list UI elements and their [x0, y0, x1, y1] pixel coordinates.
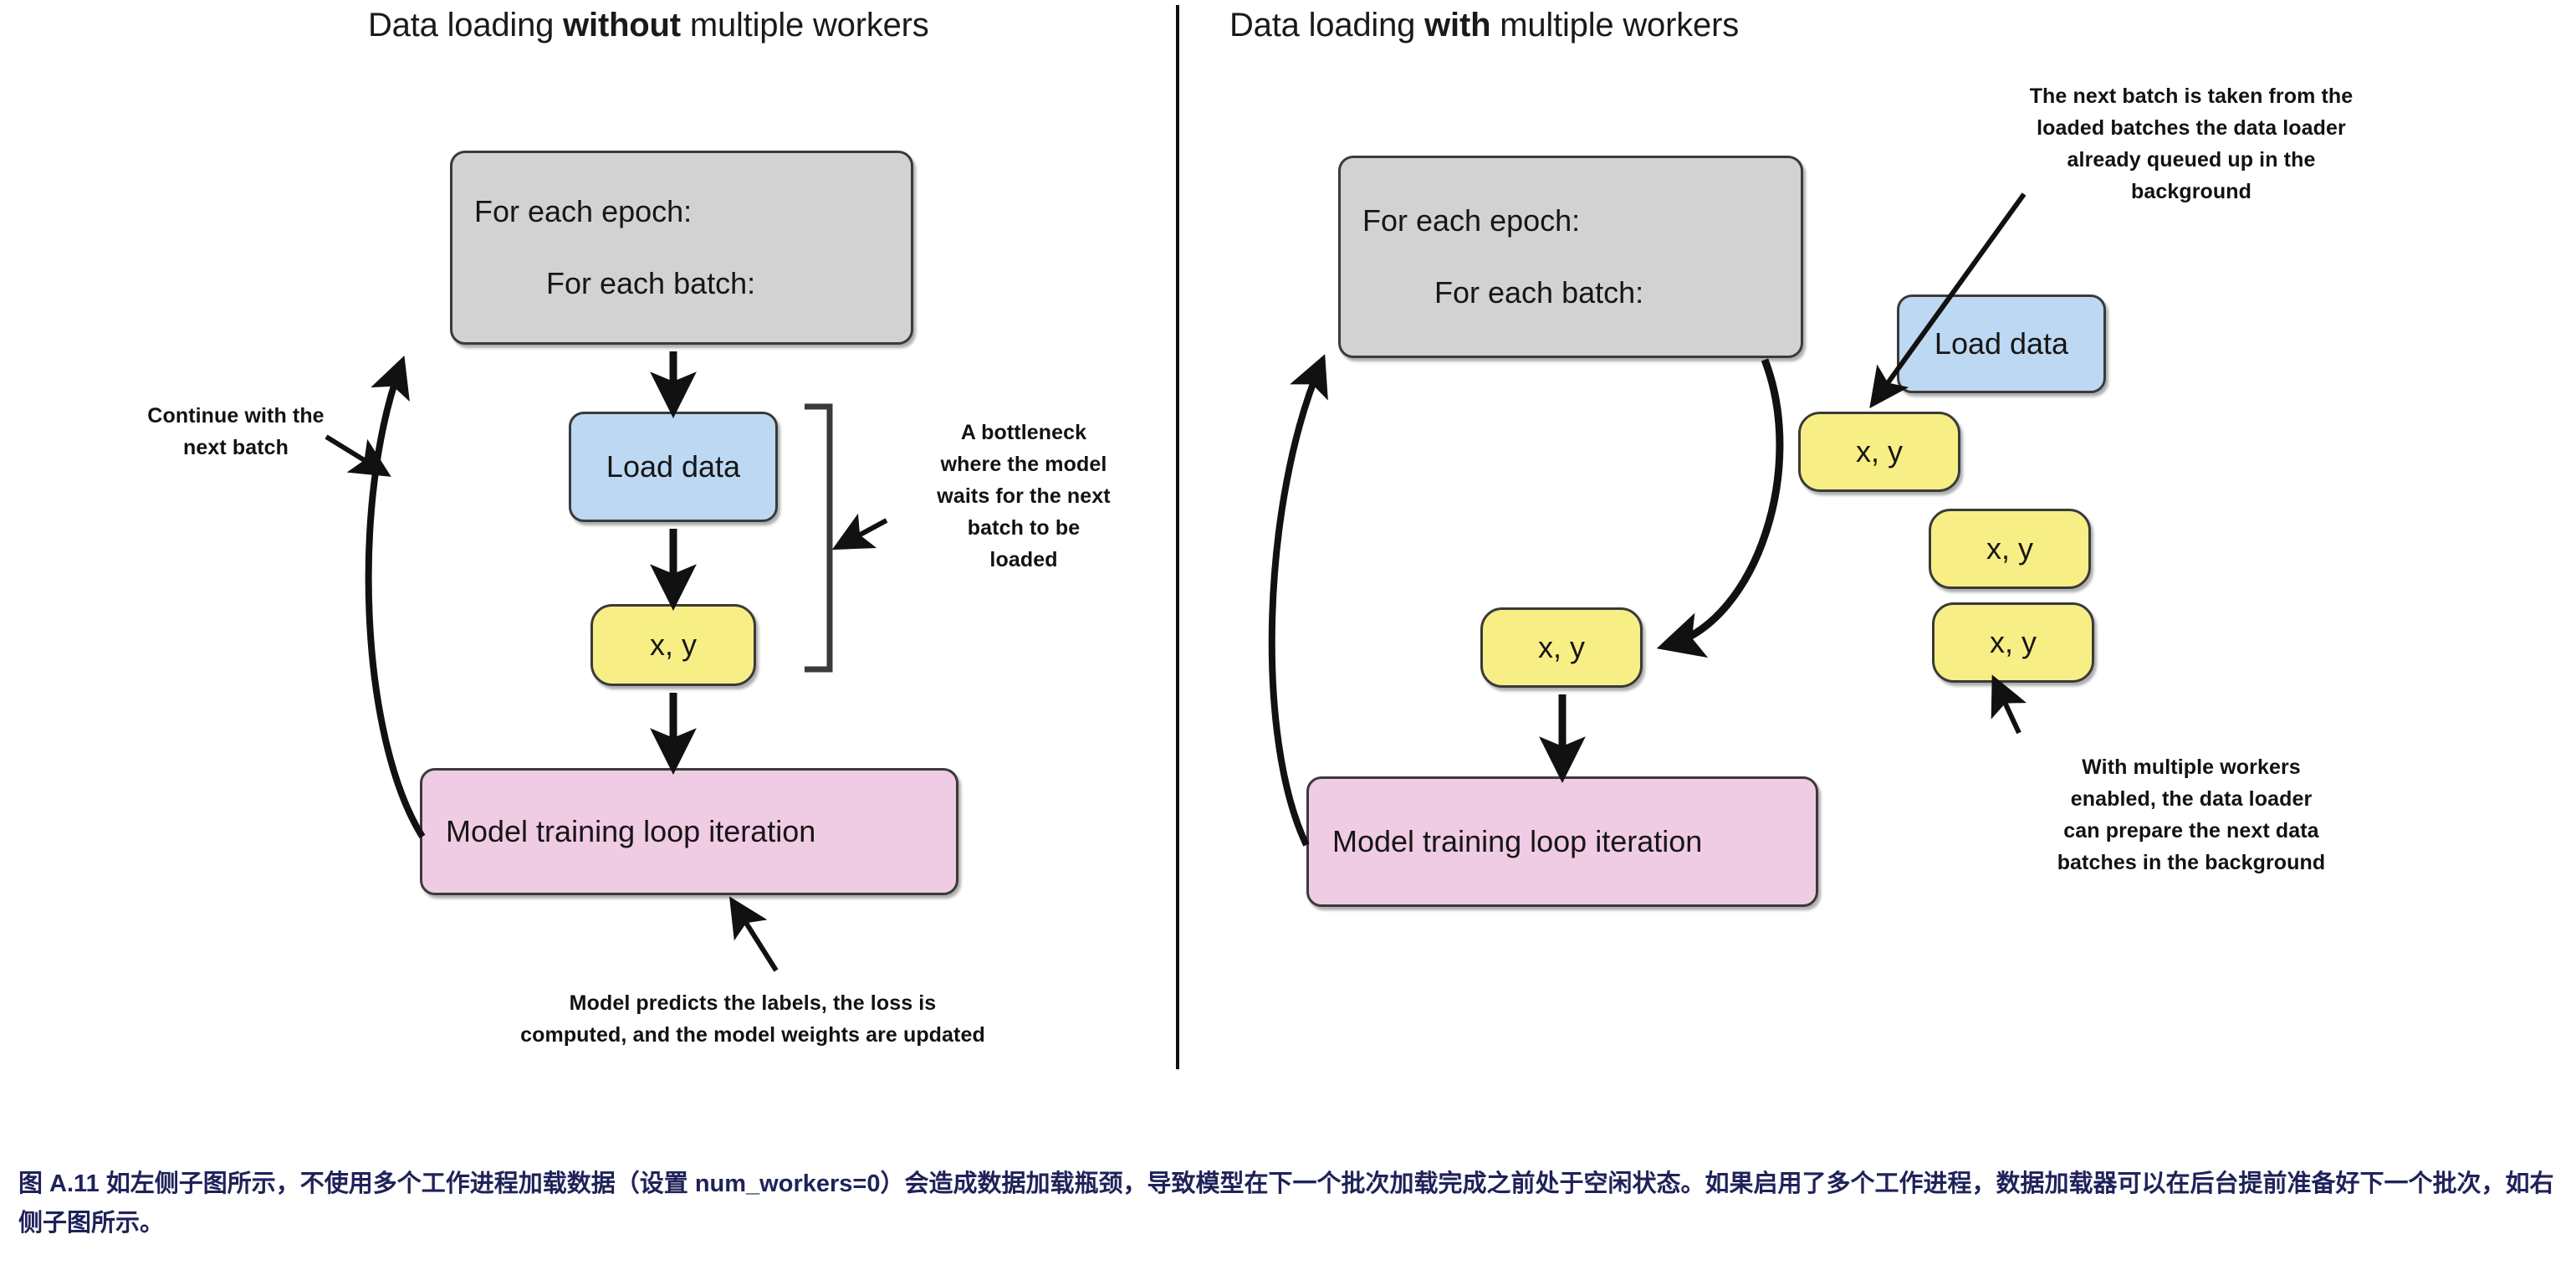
right-xy-queue-label-1: x, y: [1801, 434, 1958, 469]
left-bottleneck-note-pointer: [843, 520, 887, 544]
right-load-data-label: Load data: [1899, 326, 2103, 361]
left-load-data-label: Load data: [571, 449, 775, 484]
right-loop-lines: For each epoch: For each batch:: [1341, 203, 1801, 310]
left-panel-title: Data loading without multiple workers: [368, 7, 929, 44]
left-loop-box: For each epoch: For each batch:: [450, 151, 913, 345]
left-model-predicts-note: Model predicts the labels, the loss is c…: [443, 987, 1062, 1051]
right-loop-epoch-label: For each epoch:: [1362, 203, 1779, 238]
left-xy-box: x, y: [590, 604, 756, 686]
left-curved-feedback-arrow: [369, 368, 422, 837]
right-title-emphasis: with: [1424, 7, 1490, 44]
right-title-suffix: multiple workers: [1490, 7, 1739, 44]
left-title-prefix: Data loading: [368, 7, 563, 44]
right-curved-feedback-arrow: [1272, 366, 1320, 845]
right-multiple-workers-note-pointer: [1997, 686, 2019, 733]
right-xy-current-label: x, y: [1483, 630, 1640, 665]
left-loop-lines: For each epoch: For each batch:: [452, 194, 911, 301]
right-xy-queue-box-1: x, y: [1798, 412, 1960, 492]
left-title-emphasis: without: [563, 7, 681, 44]
left-loop-batch-label: For each batch:: [474, 266, 889, 301]
right-training-label: Model training loop iteration: [1309, 824, 1816, 859]
left-load-data-box: Load data: [569, 412, 778, 522]
left-model-predicts-pointer: [736, 907, 776, 971]
left-training-box: Model training loop iteration: [420, 768, 958, 895]
left-xy-label: x, y: [593, 627, 754, 663]
right-multiple-workers-note: With multiple workers enabled, the data …: [1940, 751, 2442, 878]
left-continue-note: Continue with the next batch: [110, 400, 361, 463]
right-xy-queue-box-3: x, y: [1932, 602, 2094, 683]
right-loop-batch-label: For each batch:: [1362, 275, 1779, 310]
right-next-batch-note: The next batch is taken from the loaded …: [1940, 80, 2442, 207]
right-title-prefix: Data loading: [1229, 7, 1424, 44]
left-bottleneck-note: A bottleneck where the model waits for t…: [903, 417, 1144, 576]
left-bottleneck-bracket: [805, 407, 830, 669]
panel-divider: [1176, 5, 1179, 1069]
right-curve-loop-to-xy: [1671, 360, 1780, 644]
right-loop-box: For each epoch: For each batch:: [1338, 156, 1803, 358]
right-training-box: Model training loop iteration: [1306, 776, 1818, 907]
left-training-label: Model training loop iteration: [422, 814, 956, 849]
right-xy-queue-label-2: x, y: [1931, 531, 2088, 566]
figure-caption: 图 A.11 如左侧子图所示，不使用多个工作进程加载数据（设置 num_work…: [18, 1165, 2561, 1243]
right-panel-title: Data loading with multiple workers: [1229, 7, 1739, 44]
left-title-suffix: multiple workers: [681, 7, 929, 44]
right-xy-current-box: x, y: [1480, 607, 1643, 688]
right-xy-queue-box-2: x, y: [1929, 509, 2091, 589]
left-loop-epoch-label: For each epoch:: [474, 194, 889, 229]
right-load-data-box: Load data: [1897, 294, 2106, 393]
right-xy-queue-label-3: x, y: [1935, 625, 2092, 660]
